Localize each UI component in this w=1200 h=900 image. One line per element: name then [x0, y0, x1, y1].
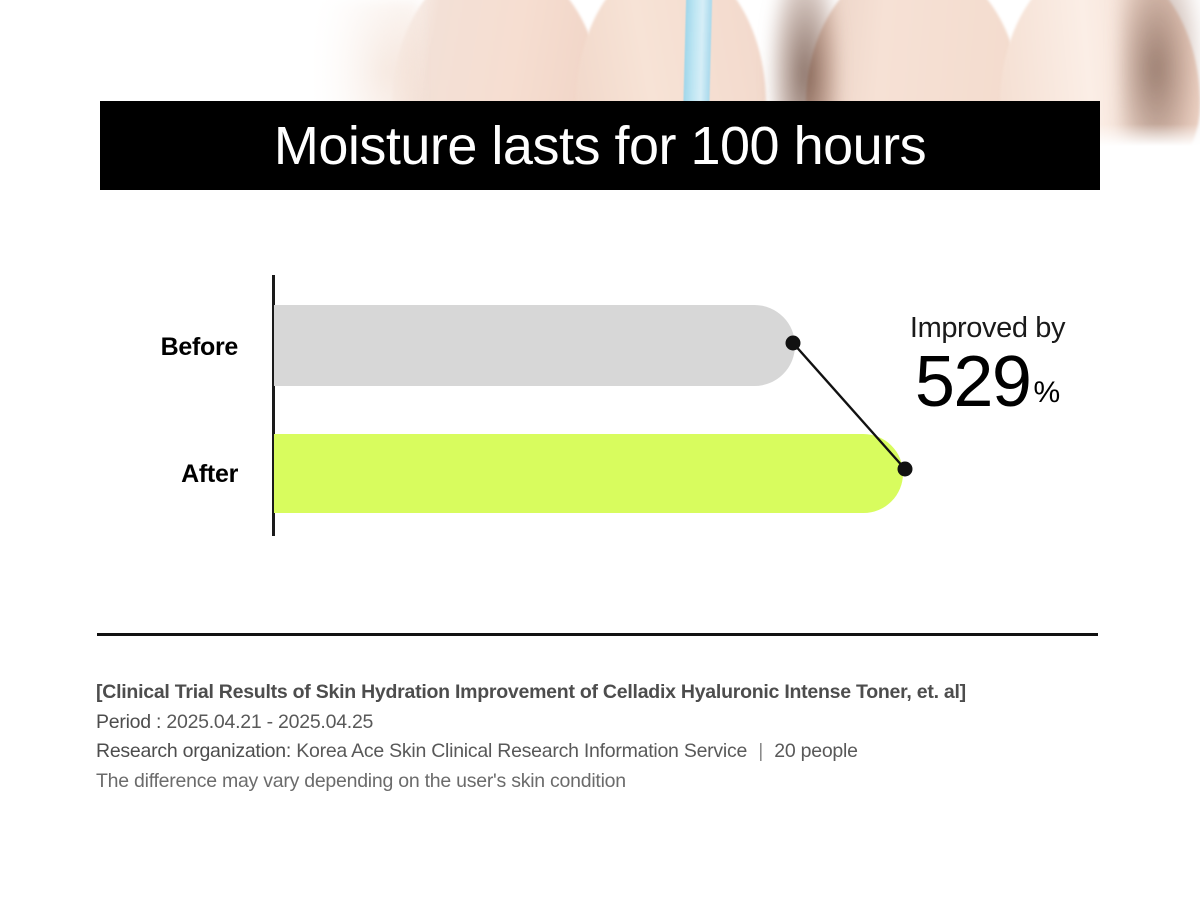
footnotes-block: [Clinical Trial Results of Skin Hydratio… — [96, 678, 1116, 796]
organization-line: Research organization: Korea Ace Skin Cl… — [96, 737, 1116, 767]
period-line: Period : 2025.04.21 - 2025.04.25 — [96, 708, 1116, 738]
headline-text: Moisture lasts for 100 hours — [274, 119, 926, 173]
footnote-separator: | — [752, 740, 769, 762]
improved-value-row: 529 % — [880, 349, 1095, 415]
section-divider — [97, 633, 1098, 636]
period-value: 2025.04.21 - 2025.04.25 — [166, 711, 373, 733]
headline-banner: Moisture lasts for 100 hours — [100, 101, 1100, 190]
organization-value: Korea Ace Skin Clinical Research Informa… — [296, 740, 747, 762]
clinical-trial-title: [Clinical Trial Results of Skin Hydratio… — [96, 678, 1116, 708]
period-label: Period : — [96, 711, 161, 733]
improved-by-label: Improved by — [880, 313, 1095, 345]
improved-percent-value: 529 — [915, 349, 1031, 415]
organization-label: Research organization: — [96, 740, 291, 762]
disclaimer-line: The difference may vary depending on the… — [96, 767, 1116, 797]
improvement-callout: Improved by 529 % — [880, 313, 1095, 415]
participants-count: 20 people — [774, 740, 857, 762]
percent-sign: % — [1030, 378, 1060, 415]
